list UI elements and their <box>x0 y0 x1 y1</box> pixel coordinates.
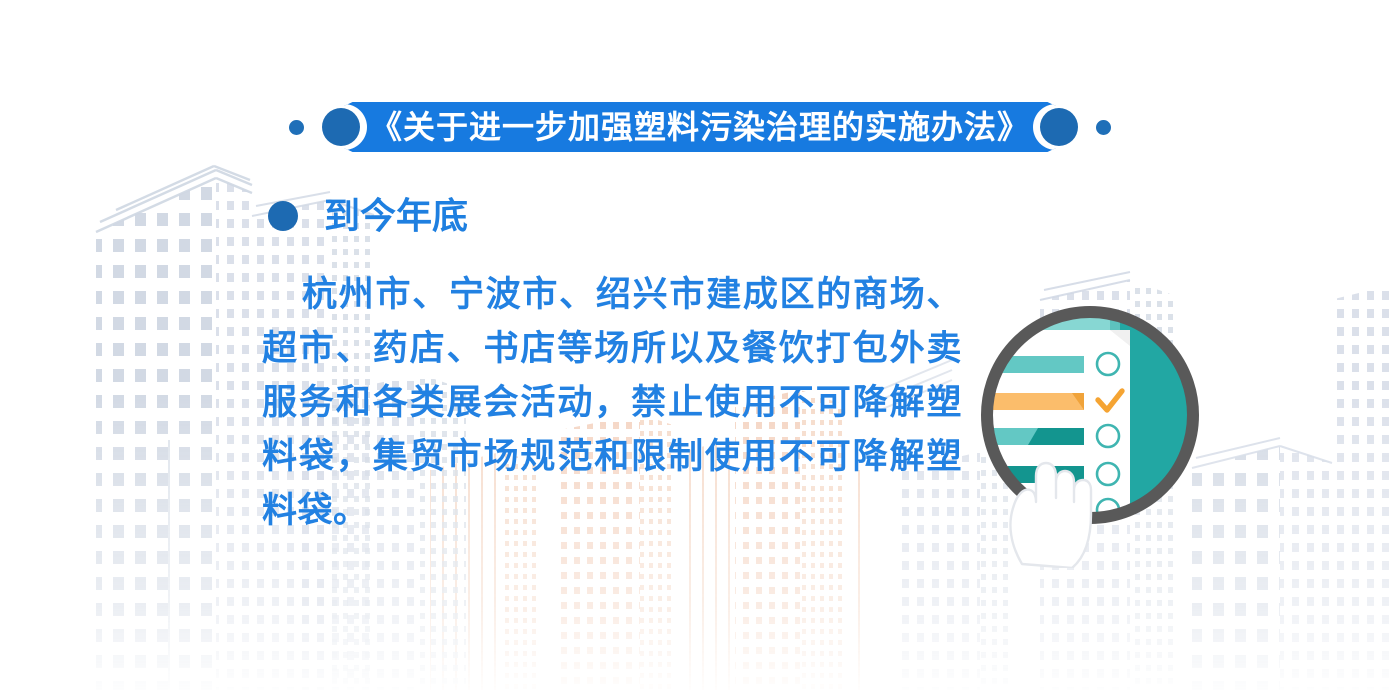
checklist-illustration <box>960 278 1230 568</box>
title-right-large-dot <box>1040 108 1078 146</box>
title-banner-row: 《关于进一步加强塑料污染治理的实施办法》 <box>0 98 1400 156</box>
title-banner: 《关于进一步加强塑料污染治理的实施办法》 <box>344 102 1056 152</box>
title-left-small-dot <box>289 120 304 135</box>
body-paragraph: 杭州市、宁波市、绍兴市建成区的商场、超市、药店、书店等场所以及餐饮打包外卖服务和… <box>262 268 962 538</box>
bullet-icon <box>268 201 298 231</box>
title-right-small-dot <box>1096 120 1111 135</box>
title-left-large-dot <box>322 108 360 146</box>
illustration-disc <box>978 298 1210 530</box>
subheading-label: 到今年底 <box>324 198 468 234</box>
page-title: 《关于进一步加强塑料污染治理的实施办法》 <box>370 111 1030 143</box>
subheading: 到今年底 <box>268 198 468 234</box>
poster-root: 《关于进一步加强塑料污染治理的实施办法》 到今年底 杭州市、宁波市、绍兴市建成区… <box>0 0 1400 700</box>
